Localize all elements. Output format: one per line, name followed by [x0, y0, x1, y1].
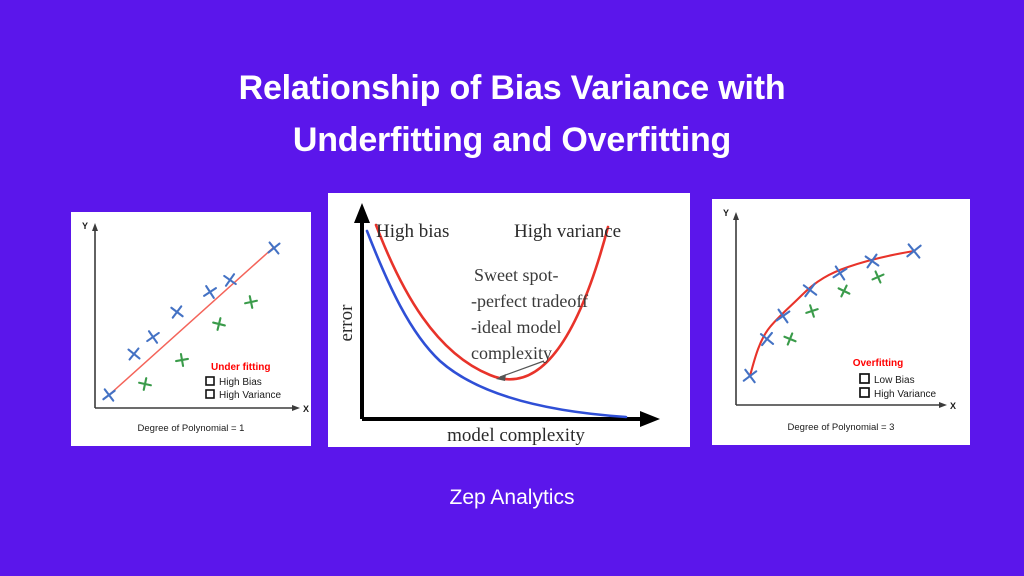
high-variance-label: High variance [514, 221, 621, 242]
legend-title: Under fitting [211, 362, 270, 373]
underfitting-chart: Y X Under fitting [71, 212, 311, 446]
overfitting-chart: Y X Overfitting [712, 199, 970, 445]
annotation-line-2: -ideal model [471, 317, 561, 337]
title-line-1: Relationship of Bias Variance with [0, 62, 1024, 114]
y-axis-label: Y [82, 221, 88, 231]
x-axis-label: X [303, 404, 309, 414]
legend-item-label: High Bias [219, 377, 262, 388]
slide-canvas: Relationship of Bias Variance with Under… [0, 0, 1024, 576]
title-line-2: Underfitting and Overfitting [0, 114, 1024, 166]
chart-caption: Degree of Polynomial = 1 [138, 423, 245, 434]
annotation-line-3: complexity [471, 343, 552, 363]
footer-brand: Zep Analytics [0, 486, 1024, 510]
legend-title: Overfitting [853, 358, 904, 369]
bias-variance-chart: error model complexity High bias High va… [328, 193, 690, 447]
test-points [782, 269, 886, 347]
high-bias-label: High bias [376, 221, 449, 242]
x-axis-label: X [950, 401, 956, 411]
legend-item-0: Low Bias [860, 374, 915, 386]
y-axis-label: error [336, 304, 357, 342]
sweet-spot-annotation: Sweet spot- -perfect tradeoff -ideal mod… [471, 265, 588, 381]
annotation-line-1: -perfect tradeoff [471, 291, 588, 311]
annotation-line-0: Sweet spot- [474, 265, 559, 285]
legend-item-label: High Variance [219, 390, 282, 401]
bias-variance-tradeoff-panel: error model complexity High bias High va… [328, 193, 690, 447]
legend-item-1: High Variance [860, 388, 937, 400]
page-title: Relationship of Bias Variance with Under… [0, 62, 1024, 166]
underfitting-panel: Y X Under fitting [71, 212, 311, 446]
legend-item-label: High Variance [874, 389, 937, 400]
y-axis-label: Y [723, 208, 729, 218]
x-axis-label: model complexity [447, 425, 585, 446]
axes [733, 212, 947, 408]
chart-caption: Degree of Polynomial = 3 [788, 422, 895, 433]
legend-item-label: Low Bias [874, 375, 915, 386]
legend-item-1: High Variance [206, 390, 282, 401]
overfitting-panel: Y X Overfitting [712, 199, 970, 445]
legend-item-0: High Bias [206, 377, 262, 388]
